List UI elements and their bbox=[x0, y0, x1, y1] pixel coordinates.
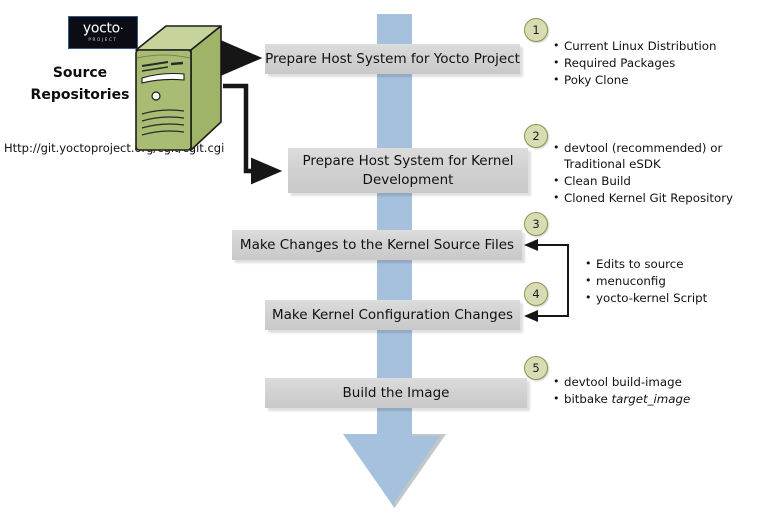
notes-step-1: Current Linux Distribution Required Pack… bbox=[553, 38, 716, 89]
note-item: Clean Build bbox=[553, 173, 733, 189]
step-badge-4: 4 bbox=[524, 282, 548, 306]
notes-step-2: devtool (recommended) or Traditional eSD… bbox=[553, 140, 733, 207]
source-repositories-label: Source Repositories bbox=[20, 62, 140, 106]
note-item: devtool (recommended) or Traditional eSD… bbox=[553, 140, 724, 172]
step-badge-1: 1 bbox=[524, 18, 548, 42]
notes-steps-3-and-4: Edits to source menuconfig yocto-kernel … bbox=[585, 256, 707, 307]
note-item: bitbake target_image bbox=[553, 391, 690, 407]
note-item: Edits to source bbox=[585, 256, 707, 272]
main-flow-arrow-icon bbox=[330, 14, 470, 514]
process-box-step-2[interactable]: Prepare Host System for Kernel Developme… bbox=[288, 148, 528, 193]
source-label-line-1: Source bbox=[20, 62, 140, 84]
note-item: Poky Clone bbox=[553, 72, 716, 88]
process-box-step-4[interactable]: Make Kernel Configuration Changes bbox=[265, 300, 520, 330]
step-badge-3: 3 bbox=[524, 212, 548, 236]
process-box-step-5[interactable]: Build the Image bbox=[265, 378, 527, 408]
notes-step-5: devtool build-image bitbake target_image bbox=[553, 374, 690, 408]
note-item: menuconfig bbox=[585, 273, 707, 289]
process-box-step-3[interactable]: Make Changes to the Kernel Source Files bbox=[232, 230, 522, 260]
process-box-step-1[interactable]: Prepare Host System for Yocto Project bbox=[265, 44, 520, 74]
note-item: yocto-kernel Script bbox=[585, 290, 707, 306]
step-badge-2: 2 bbox=[524, 124, 548, 148]
diagram-canvas: yocto· PROJECT Source Repositories Http:… bbox=[0, 0, 769, 517]
logo-wordmark: yocto· bbox=[83, 22, 123, 36]
note-item: Required Packages bbox=[553, 55, 716, 71]
logo-subtext: PROJECT bbox=[88, 36, 117, 43]
server-tower-icon bbox=[128, 22, 228, 157]
step-badge-5: 5 bbox=[524, 356, 548, 380]
source-label-line-2: Repositories bbox=[20, 84, 140, 106]
note-item: Cloned Kernel Git Repository bbox=[553, 190, 733, 206]
connector-step3-step4-bracket bbox=[524, 239, 568, 322]
note-item: Current Linux Distribution bbox=[553, 38, 716, 54]
note-item: devtool build-image bbox=[553, 374, 690, 390]
connector-server-to-step2 bbox=[223, 86, 276, 171]
